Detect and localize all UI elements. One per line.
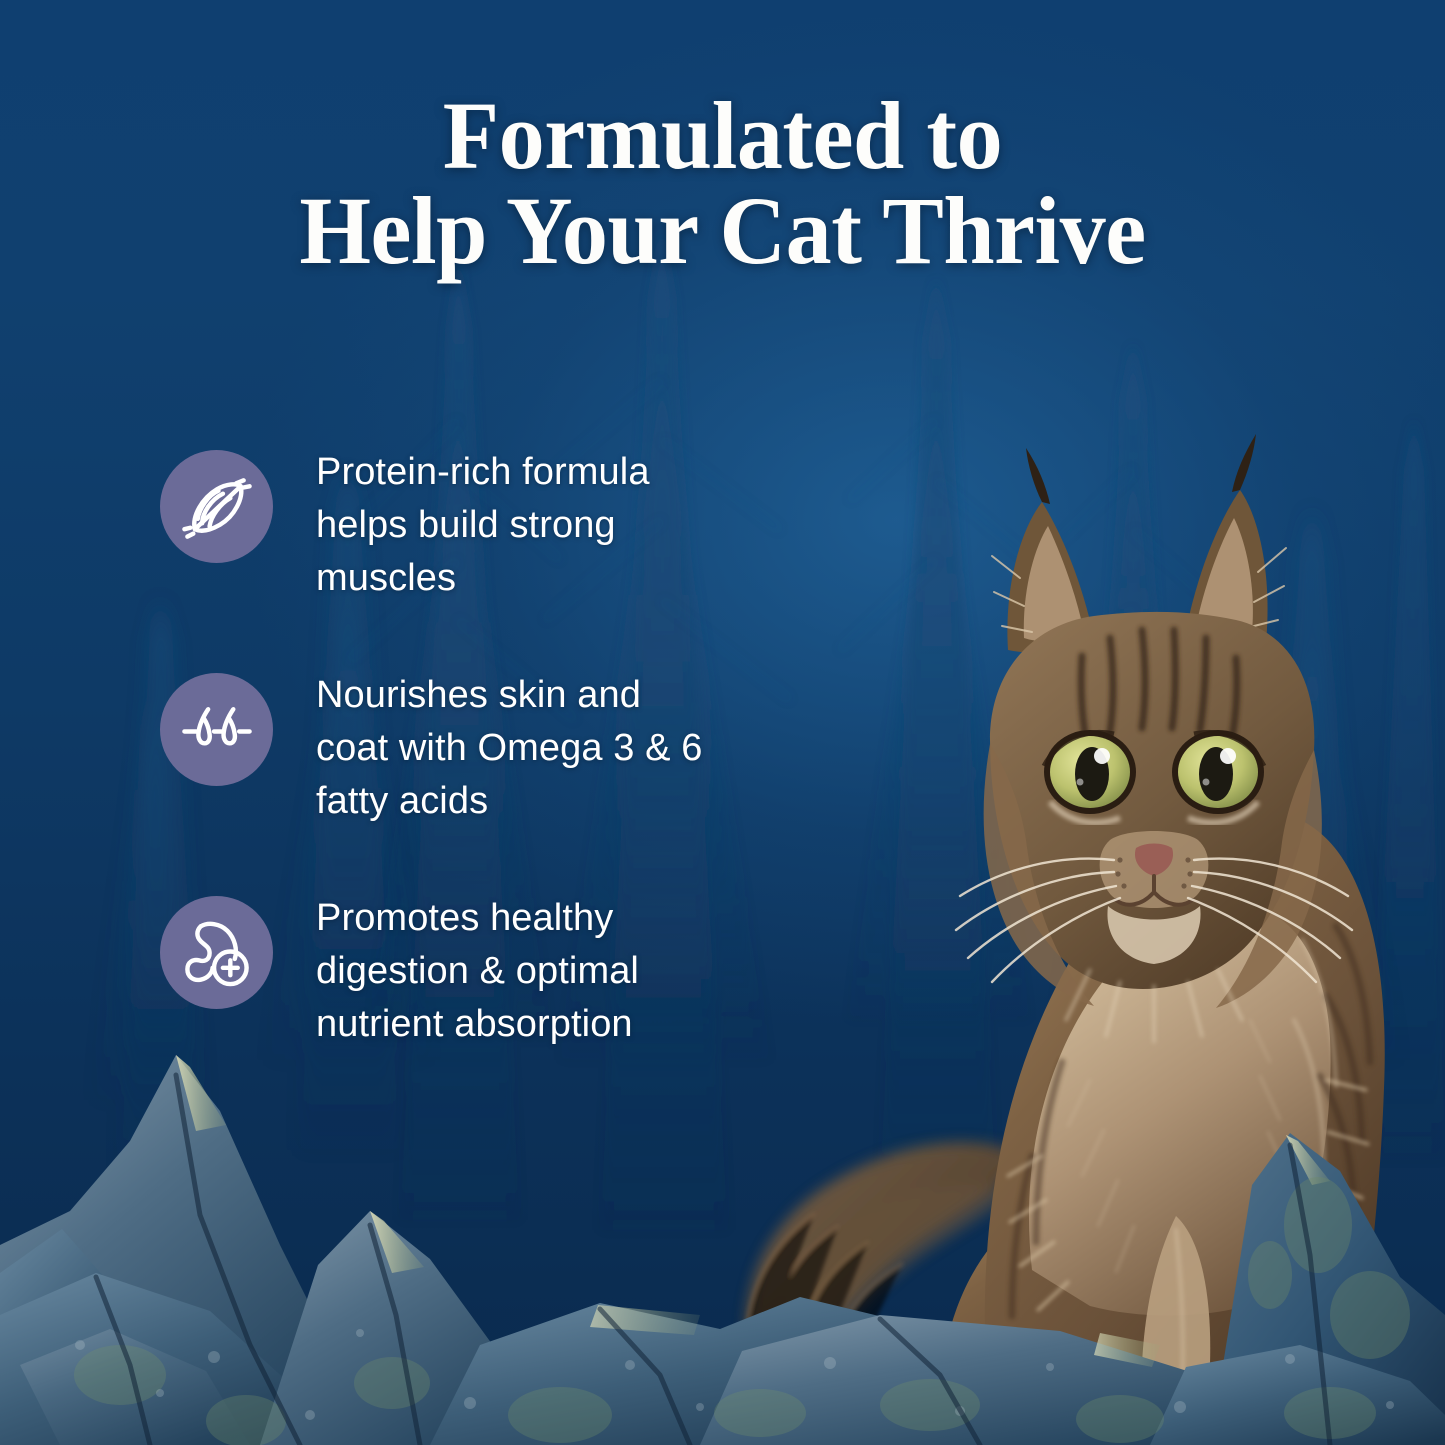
muscle-fiber-icon [180, 470, 254, 544]
stomach-plus-icon-badge [160, 896, 273, 1009]
hair-follicle-icon-badge [160, 673, 273, 786]
benefit-text-digestion: Promotes healthy digestion & optimal nut… [316, 890, 720, 1051]
benefits-list: Protein-rich formula helps build strong … [160, 444, 720, 1051]
headline-line-2: Help Your Cat Thrive [29, 183, 1416, 278]
headline: Formulated to Help Your Cat Thrive [0, 88, 1445, 278]
benefit-item-digestion: Promotes healthy digestion & optimal nut… [160, 890, 720, 1051]
stomach-plus-icon [180, 916, 254, 990]
rock-foreground [0, 1015, 1445, 1445]
promo-banner: Formulated to Help Your Cat Thrive [0, 0, 1445, 1445]
hair-follicle-icon [180, 693, 254, 767]
benefit-text-protein: Protein-rich formula helps build strong … [316, 444, 720, 605]
benefit-item-skin-coat: Nourishes skin and coat with Omega 3 & 6… [160, 667, 720, 828]
benefit-item-protein: Protein-rich formula helps build strong … [160, 444, 720, 605]
headline-line-1: Formulated to [29, 88, 1416, 183]
benefit-text-skin-coat: Nourishes skin and coat with Omega 3 & 6… [316, 667, 720, 828]
muscle-fiber-icon-badge [160, 450, 273, 563]
